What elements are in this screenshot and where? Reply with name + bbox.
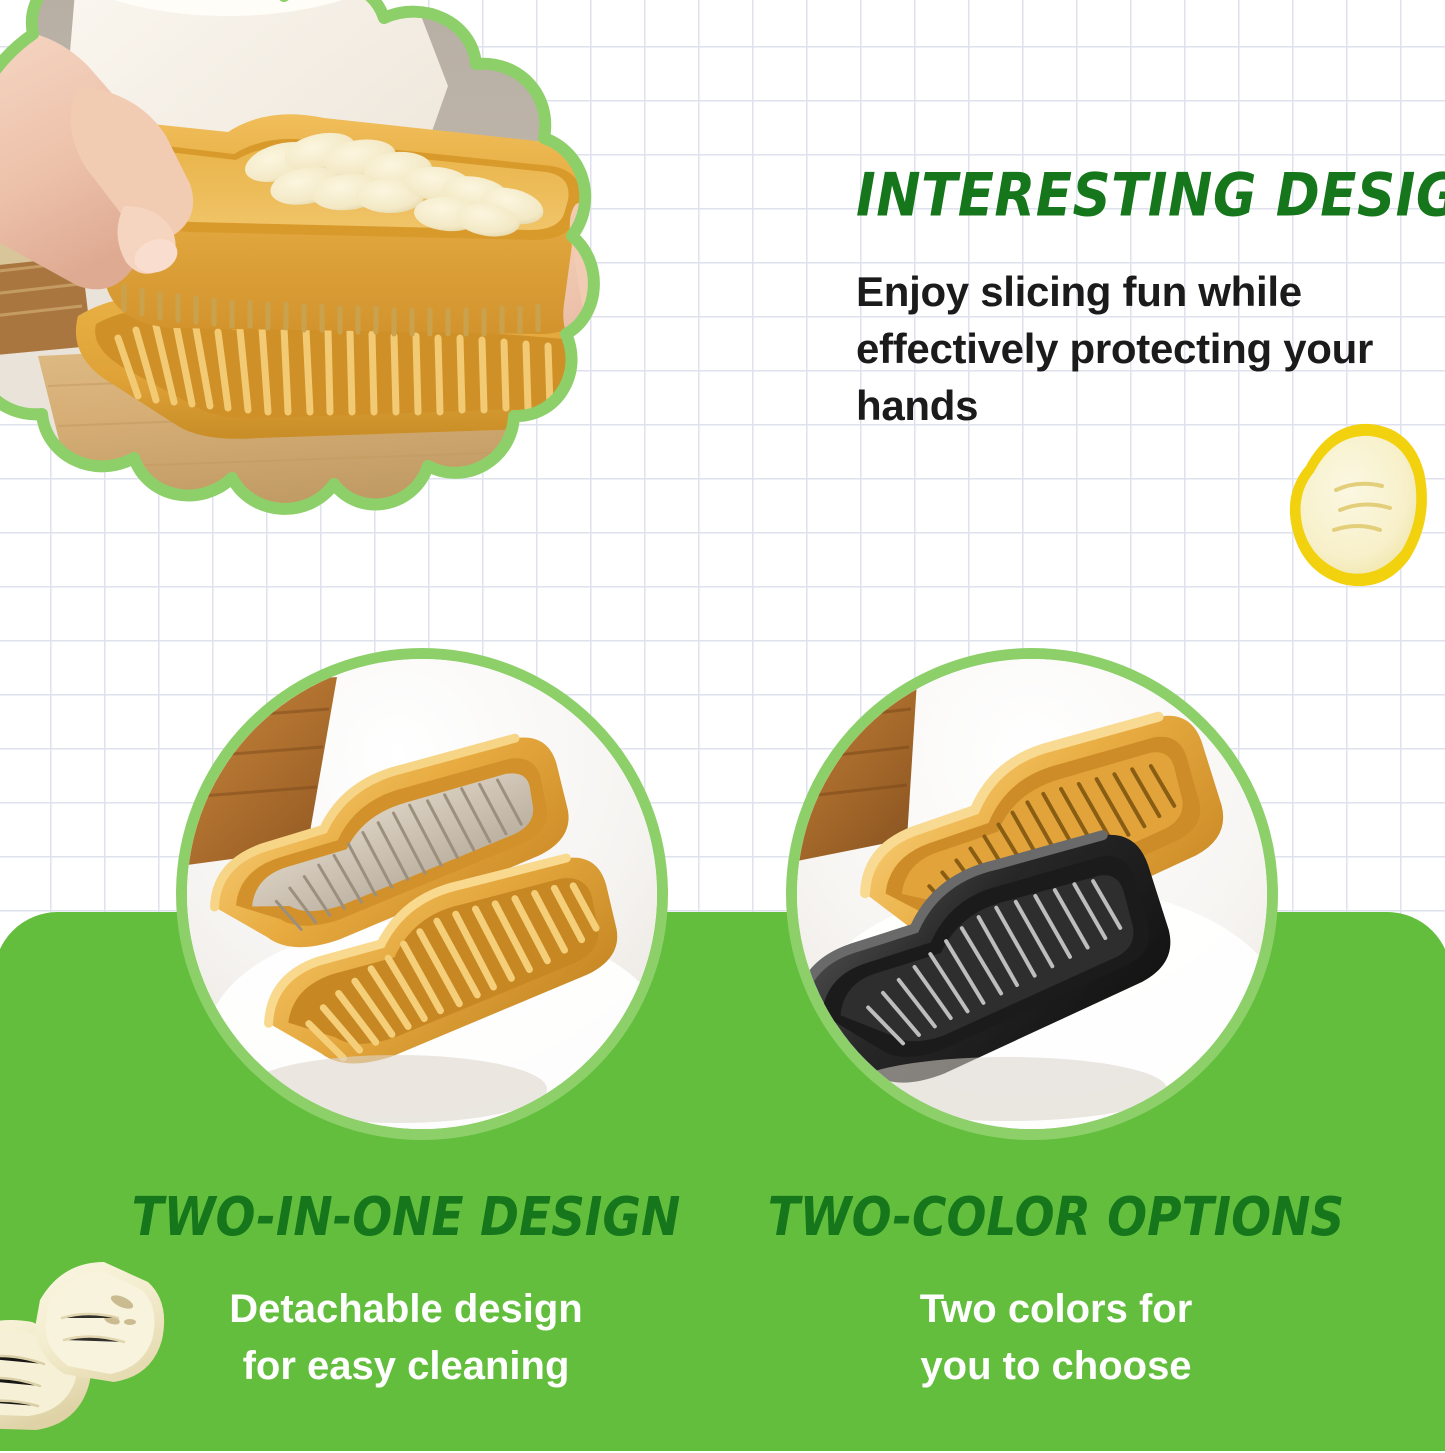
feature-caption-two-color: TWO-COLOR OPTIONS Two colors for you to … bbox=[746, 1186, 1366, 1395]
feature-body-line1: Detachable design bbox=[96, 1281, 716, 1338]
feature-body-line2: you to choose bbox=[746, 1338, 1366, 1395]
feature-title-two-in-one: TWO-IN-ONE DESIGN bbox=[96, 1186, 716, 1249]
feature-body-two-in-one: Detachable design for easy cleaning bbox=[96, 1281, 716, 1395]
headline-body: Enjoy slicing fun while effectively prot… bbox=[856, 263, 1416, 434]
headline-title: INTERESTING DESIGN bbox=[856, 166, 1416, 225]
feature-caption-two-in-one: TWO-IN-ONE DESIGN Detachable design for … bbox=[96, 1186, 716, 1395]
feature-body-two-color: Two colors for you to choose bbox=[746, 1281, 1366, 1395]
feature-title-two-color: TWO-COLOR OPTIONS bbox=[746, 1186, 1366, 1249]
hero-cloud-photo bbox=[0, 0, 708, 566]
feature-body-line2: for easy cleaning bbox=[96, 1338, 716, 1395]
headline-block: INTERESTING DESIGN Enjoy slicing fun whi… bbox=[856, 166, 1416, 434]
feature-image-two-in-one bbox=[176, 648, 668, 1140]
feature-body-line1: Two colors for bbox=[746, 1281, 1366, 1338]
feature-image-two-color bbox=[786, 648, 1278, 1140]
banana-slice-decoration bbox=[1278, 414, 1436, 599]
